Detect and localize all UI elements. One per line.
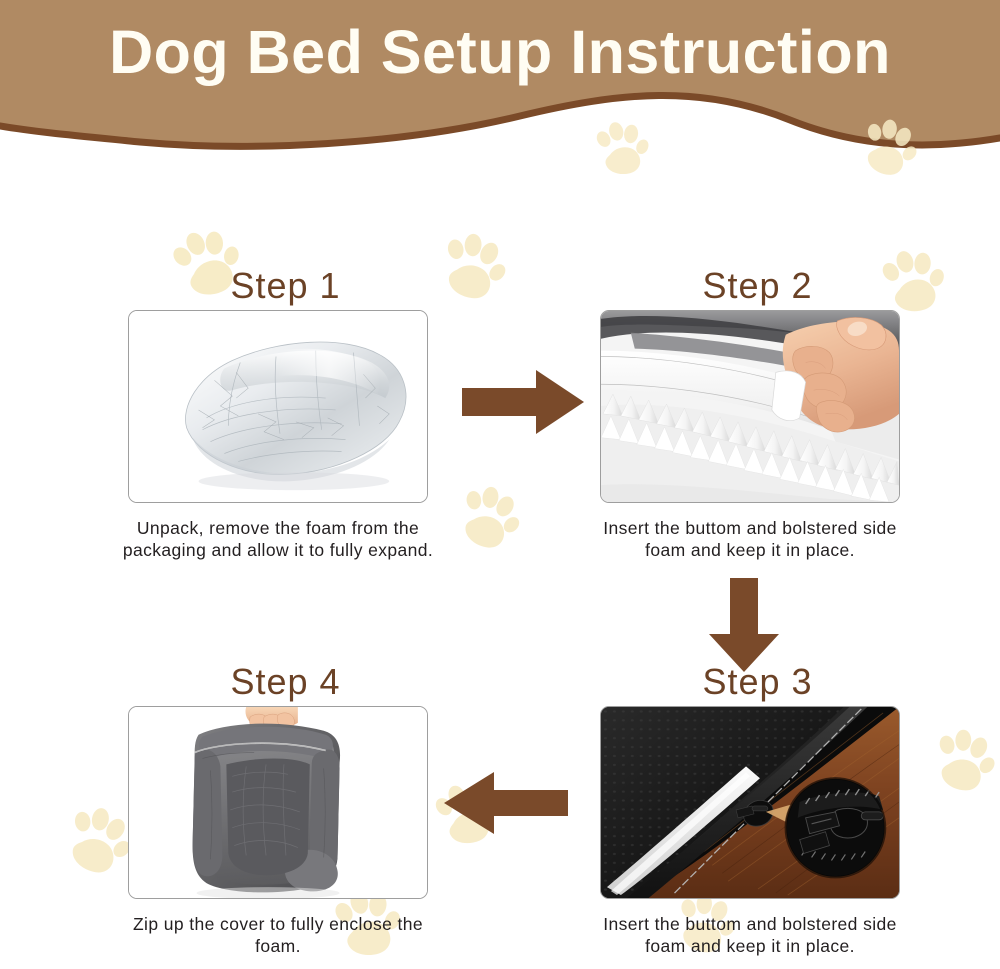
step-1-caption: Unpack, remove the foam from the packagi… <box>113 517 443 561</box>
step-4-photo-frame <box>128 706 428 899</box>
page-title: Dog Bed Setup Instruction <box>0 22 1000 83</box>
step-1-title: Step 1 <box>128 262 443 310</box>
arrow-step3-to-step4 <box>440 768 570 843</box>
step-block-2: Step 2 <box>600 262 915 561</box>
header-banner: Dog Bed Setup Instruction <box>0 0 1000 160</box>
paw-print-icon <box>925 723 1000 799</box>
zipper-closeup-photo <box>601 707 899 898</box>
hand-inserting-egg-crate-foam-photo <box>601 311 899 502</box>
paw-print-icon <box>447 477 529 559</box>
hand-holding-gray-bed-cover-photo <box>129 707 427 898</box>
step-block-3: Step 3 <box>600 658 915 957</box>
paw-print-icon <box>589 117 653 181</box>
step-2-photo-frame <box>600 310 900 503</box>
step-1-photo-frame <box>128 310 428 503</box>
paw-print-icon <box>852 112 925 185</box>
infographic-page: Dog Bed Setup Instruction Step 1 <box>0 0 1000 969</box>
step-2-caption: Insert the buttom and bolstered side foa… <box>585 517 915 561</box>
step-block-4: Step 4 <box>128 658 443 957</box>
step-2-title: Step 2 <box>600 262 915 310</box>
zipper-magnified-callout <box>786 778 885 877</box>
step-3-photo-frame <box>600 706 900 899</box>
vacuum-sealed-foam-package-photo <box>129 311 427 502</box>
step-block-1: Step 1 <box>128 262 443 561</box>
step-4-title: Step 4 <box>128 658 443 706</box>
arrow-step2-to-step3 <box>705 578 783 679</box>
arrow-step1-to-step2 <box>462 368 586 441</box>
step-4-caption: Zip up the cover to fully enclose the fo… <box>113 913 443 957</box>
step-3-caption: Insert the buttom and bolstered side foa… <box>585 913 915 957</box>
